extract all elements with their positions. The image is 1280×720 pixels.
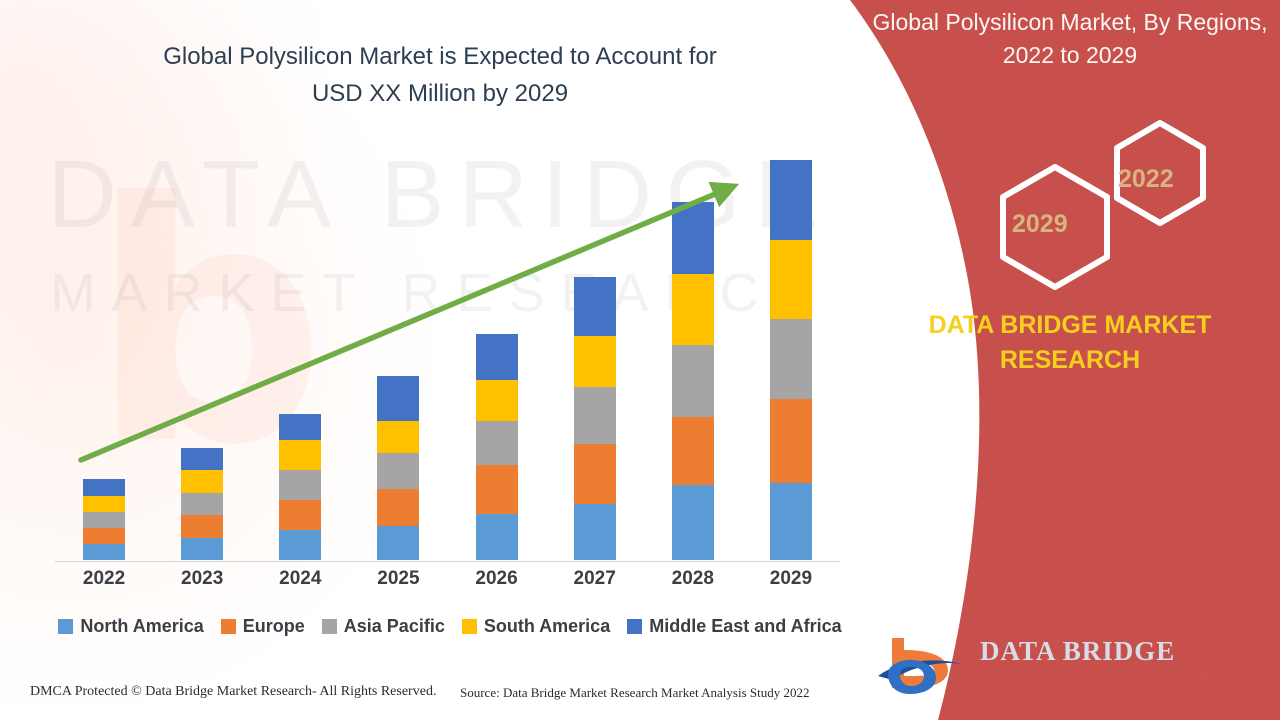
legend-label: South America xyxy=(484,616,610,637)
infographic-root: b DATA BRIDGE MARKET RESEARCH Global Pol… xyxy=(0,0,1280,720)
x-axis-label-2023: 2023 xyxy=(155,568,250,590)
bar-segment xyxy=(279,530,321,560)
chart-legend: North AmericaEuropeAsia PacificSouth Ame… xyxy=(55,616,845,637)
right-panel: Global Polysilicon Market, By Regions, 2… xyxy=(850,0,1280,720)
stacked-bar xyxy=(377,376,419,560)
panel-title: Global Polysilicon Market, By Regions, 2… xyxy=(860,6,1280,71)
legend-swatch-icon xyxy=(322,619,337,634)
stacked-bar xyxy=(672,202,714,560)
panel-content: Global Polysilicon Market, By Regions, 2… xyxy=(850,0,1280,720)
bar-segment xyxy=(574,387,616,444)
bar-segment xyxy=(83,496,125,512)
bar-segment xyxy=(476,334,518,380)
x-axis-labels: 20222023202420252026202720282029 xyxy=(55,568,840,590)
hexagon-2022 xyxy=(1117,123,1203,223)
bar-column-2027 xyxy=(547,160,642,560)
bar-segment xyxy=(83,544,125,560)
bar-column-2025 xyxy=(351,160,446,560)
stacked-bar-chart xyxy=(55,160,840,560)
legend-swatch-icon xyxy=(627,619,642,634)
year-hexagons: 2022 2029 xyxy=(850,105,1280,300)
bar-group xyxy=(55,160,840,560)
bar-column-2026 xyxy=(449,160,544,560)
source-note: Source: Data Bridge Market Research Mark… xyxy=(460,685,809,701)
copyright-notice: DMCA Protected © Data Bridge Market Rese… xyxy=(30,684,436,700)
bar-segment xyxy=(770,399,812,483)
bar-segment xyxy=(476,380,518,421)
logo-wordmark: DATA BRIDGE xyxy=(980,636,1175,667)
plot-area xyxy=(55,160,840,560)
bar-column-2028 xyxy=(645,160,740,560)
legend-item[interactable]: Asia Pacific xyxy=(322,616,445,637)
legend-label: Europe xyxy=(243,616,305,637)
legend-label: Asia Pacific xyxy=(344,616,445,637)
hexagon-label-start: 2022 xyxy=(1118,165,1174,194)
bar-segment xyxy=(279,500,321,530)
bar-segment xyxy=(672,345,714,417)
bar-segment xyxy=(83,512,125,528)
bar-segment xyxy=(476,514,518,560)
bar-segment xyxy=(83,528,125,544)
bar-segment xyxy=(279,470,321,500)
bar-segment xyxy=(377,376,419,421)
bar-segment xyxy=(279,414,321,440)
panel-background-shape xyxy=(850,0,1280,720)
bar-segment xyxy=(181,493,223,515)
bar-segment xyxy=(476,465,518,514)
legend-item[interactable]: South America xyxy=(462,616,610,637)
bar-segment xyxy=(574,504,616,560)
stacked-bar xyxy=(476,334,518,560)
x-axis-label-2029: 2029 xyxy=(743,568,838,590)
bar-segment xyxy=(770,160,812,240)
bar-segment xyxy=(181,538,223,560)
legend-item[interactable]: North America xyxy=(58,616,203,637)
x-axis-label-2025: 2025 xyxy=(351,568,446,590)
hexagon-outlines xyxy=(850,105,1280,300)
x-axis-label-2026: 2026 xyxy=(449,568,544,590)
bar-segment xyxy=(83,479,125,496)
x-axis-label-2022: 2022 xyxy=(57,568,152,590)
page-title-line1: Global Polysilicon Market is Expected to… xyxy=(60,38,820,75)
bar-segment xyxy=(672,274,714,346)
bar-segment xyxy=(476,421,518,465)
page-title-line2: USD XX Million by 2029 xyxy=(60,75,820,112)
bar-column-2023 xyxy=(155,160,250,560)
bar-segment xyxy=(279,440,321,470)
bar-segment xyxy=(574,277,616,336)
bar-segment xyxy=(181,515,223,537)
hexagon-2029 xyxy=(1003,167,1107,287)
bar-segment xyxy=(181,470,223,492)
bar-segment xyxy=(377,453,419,489)
legend-label: Middle East and Africa xyxy=(649,616,841,637)
bar-segment xyxy=(672,485,714,560)
bar-column-2029 xyxy=(743,160,838,560)
bar-segment xyxy=(770,483,812,560)
bar-column-2024 xyxy=(253,160,348,560)
x-axis-label-2027: 2027 xyxy=(547,568,642,590)
bar-column-2022 xyxy=(57,160,152,560)
bar-segment xyxy=(672,417,714,485)
x-axis-label-2028: 2028 xyxy=(645,568,740,590)
bar-segment xyxy=(770,240,812,319)
logo-subtitle: MARKET RESEARCH xyxy=(984,670,1215,686)
legend-swatch-icon xyxy=(221,619,236,634)
stacked-bar xyxy=(574,277,616,560)
stacked-bar xyxy=(181,448,223,560)
stacked-bar xyxy=(279,414,321,560)
bar-segment xyxy=(377,421,419,453)
legend-item[interactable]: Europe xyxy=(221,616,305,637)
bar-segment xyxy=(181,448,223,470)
x-axis-label-2024: 2024 xyxy=(253,568,348,590)
bar-segment xyxy=(672,202,714,274)
legend-label: North America xyxy=(80,616,203,637)
x-axis-line xyxy=(55,561,840,562)
bar-segment xyxy=(377,526,419,560)
legend-swatch-icon xyxy=(58,619,73,634)
brand-name: DATA BRIDGE MARKET RESEARCH xyxy=(865,308,1275,377)
bar-segment xyxy=(574,336,616,387)
bar-segment xyxy=(770,319,812,399)
data-bridge-logo-icon xyxy=(870,630,1270,700)
legend-item[interactable]: Middle East and Africa xyxy=(627,616,841,637)
legend-swatch-icon xyxy=(462,619,477,634)
stacked-bar xyxy=(83,479,125,560)
hexagon-label-end: 2029 xyxy=(1012,210,1068,239)
stacked-bar xyxy=(770,160,812,560)
bar-segment xyxy=(574,444,616,505)
page-title: Global Polysilicon Market is Expected to… xyxy=(60,38,820,112)
bar-segment xyxy=(377,489,419,525)
